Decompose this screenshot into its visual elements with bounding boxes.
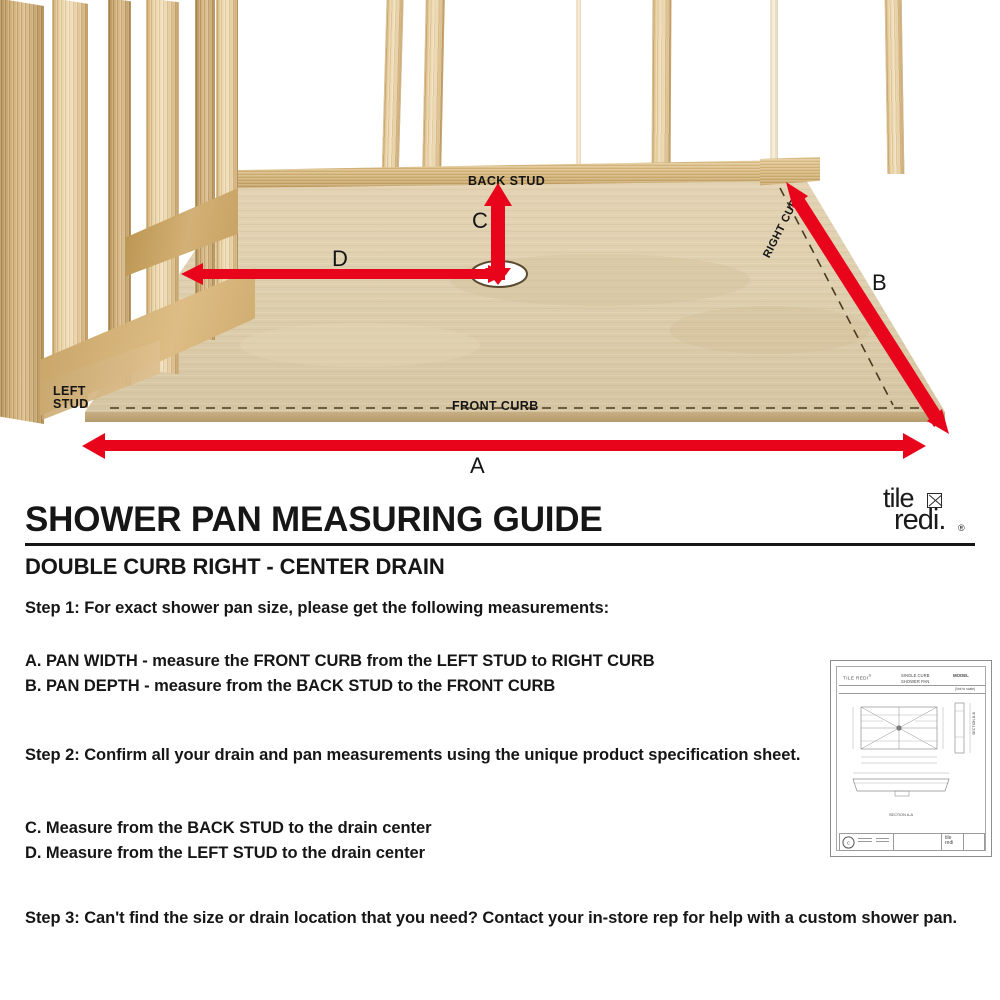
spec-sheet-footer-text-c [876,838,889,839]
svg-text:c: c [847,841,850,847]
spec-sheet-footer-logo: tile redi [945,836,953,846]
spec-sheet-brand: TILE REDI® [843,674,871,681]
certification-seal-icon: c [842,836,855,849]
shower-pan-measuring-guide-page: BACK STUD LEFT STUD FRONT CURB RIGHT CUR… [0,0,1000,1000]
measurement-b-line: B. PAN DEPTH - measure from the BACK STU… [25,676,885,698]
tile-redi-logo: tile redi. ® [877,485,977,541]
measurement-c-line: C. Measure from the BACK STUD to the dra… [25,818,815,840]
spec-sheet-footer-div2 [941,833,942,851]
page-subtitle: DOUBLE CURB RIGHT - CENTER DRAIN [25,554,445,580]
measurement-arrows [0,0,1000,483]
spec-sheet-footer-text-d [876,841,889,842]
measurement-b-rest: - measure from the BACK STUD to the FRON… [140,677,556,695]
guide-text-section: SHOWER PAN MEASURING GUIDE DOUBLE CURB R… [0,483,1000,1000]
arrow-a [82,433,926,459]
step-2-text: Step 2: Confirm all your drain and pan m… [25,745,823,767]
spec-sheet-section-view [845,771,965,805]
registered-mark: ® [958,523,965,533]
spec-sheet-view-plan: SECTION A-A [889,813,913,817]
product-specification-sheet-thumbnail: TILE REDI® SINGLE CURB SHOWER PAN MODEL … [830,660,992,857]
arrow-b [786,182,949,434]
spec-sheet-footer-text-b [858,841,872,842]
spec-sheet-footer-div3 [963,833,964,851]
measurement-a-prefix: A. [25,652,46,670]
dimension-label-c: C [472,210,488,232]
dimension-label-a: A [470,455,485,477]
spec-sheet-plan-view [839,697,985,769]
measurement-a-line: A. PAN WIDTH - measure the FRONT CURB fr… [25,651,885,673]
page-title: SHOWER PAN MEASURING GUIDE [25,500,603,540]
measurement-a-term: PAN WIDTH [46,652,138,670]
dimension-label-d: D [332,248,348,270]
spec-sheet-header-rule-2 [839,693,985,694]
measurement-d-line: D. Measure from the LEFT STUD to the dra… [25,843,815,865]
measurement-b-term: PAN DEPTH [46,677,140,695]
step-1-text: Step 1: For exact shower pan size, pleas… [25,598,845,620]
measurement-a-rest: - measure the FRONT CURB from the LEFT S… [138,652,655,670]
spec-sheet-footer-text-a [858,838,872,839]
spec-sheet-model-label: MODEL [953,673,969,678]
spec-sheet-note: (Not to scale) [955,687,975,691]
spec-sheet-header-rule [839,685,985,686]
spec-sheet-product-line2: SHOWER PAN [901,679,929,684]
spec-sheet-product-line1: SINGLE CURB [901,673,929,678]
step-3-text: Step 3: Can't find the size or drain loc… [25,908,975,930]
spec-sheet-footer-div1 [893,833,894,851]
shower-framing-photo: BACK STUD LEFT STUD FRONT CURB RIGHT CUR… [0,0,1000,483]
logo-text-redi: redi. [894,504,945,537]
dimension-label-b: B [872,272,887,294]
spec-sheet-view-side: SECTION B-B [972,712,976,735]
measurement-b-prefix: B. [25,677,46,695]
title-divider [25,543,975,546]
